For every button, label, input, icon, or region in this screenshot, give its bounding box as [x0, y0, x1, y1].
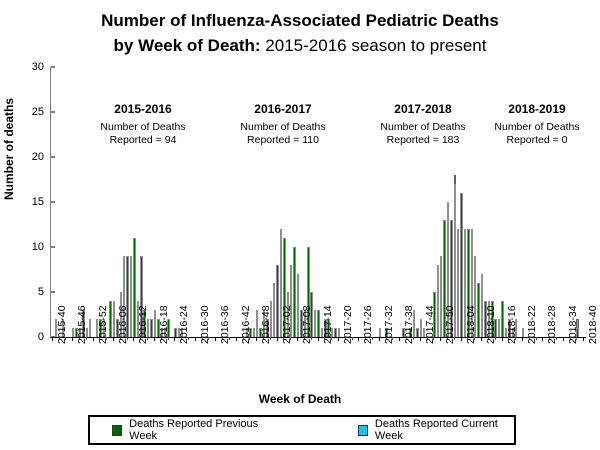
season-deaths-total: Reported = 110 [218, 134, 348, 147]
bar [133, 238, 135, 337]
season-deaths-caption: Number of Deaths [218, 121, 348, 134]
bar-segment-previous-week [501, 301, 503, 337]
bar [109, 301, 111, 337]
bar-segment-previous-week [253, 328, 255, 337]
x-axis-tick-label: 2017-44 [424, 305, 436, 344]
bar [334, 328, 336, 337]
season-name: 2015-2016 [78, 103, 208, 116]
x-axis-tick-label: 2018-28 [546, 305, 558, 344]
x-axis-tick-mark [52, 337, 53, 341]
x-axis-tick-mark [72, 337, 73, 341]
x-axis-tick-label: 2017-08 [301, 305, 313, 344]
legend-label-current-week: Deaths Reported Current Week [375, 418, 514, 442]
bar-segment-previous-week [317, 310, 319, 337]
x-axis-tick-label: 2018-40 [587, 305, 599, 344]
bar [276, 265, 278, 337]
bar [498, 319, 500, 337]
season-annotation: 2017-2018Number of DeathsReported = 183 [358, 103, 488, 147]
bar-segment-previous-week [416, 328, 418, 337]
bar-segment-previous-week [297, 274, 299, 337]
bar [293, 247, 295, 337]
bar-segment-previous-week [457, 229, 459, 337]
x-axis-tick-label: 2016-42 [240, 305, 252, 344]
bar [253, 328, 255, 337]
x-axis-tick-label: 2015-40 [56, 305, 68, 344]
bar-segment-previous-week [113, 301, 115, 337]
season-deaths-caption: Number of Deaths [358, 121, 488, 134]
x-axis-tick-label: 2017-20 [342, 305, 354, 344]
bar [256, 310, 258, 337]
bar [273, 283, 275, 337]
bar-segment-previous-week [256, 310, 258, 337]
x-axis-tick-mark [215, 337, 216, 341]
x-axis-tick-mark [461, 337, 462, 341]
season-deaths-caption: Number of Deaths [78, 121, 208, 134]
bar-segment-previous-week [109, 301, 111, 337]
season-name: 2017-2018 [358, 103, 488, 116]
bar-segment-previous-week [273, 283, 275, 337]
bar [457, 229, 459, 337]
bar-segment-previous-week [522, 328, 524, 337]
x-axis-tick-mark [236, 337, 237, 341]
y-axis-label: Number of deaths [2, 98, 16, 200]
bar-segment-previous-week [481, 274, 483, 337]
legend-label-previous-week: Deaths Reported Previous Week [129, 418, 274, 442]
x-axis-tick-label: 2016-06 [117, 305, 129, 344]
legend-swatch-previous-week-icon [112, 425, 122, 436]
bar-segment-previous-week [334, 328, 336, 337]
bar-segment-current-week [454, 175, 456, 184]
influenza-pediatric-deaths-chart: Number of Influenza-Associated Pediatric… [0, 0, 600, 450]
bar [89, 319, 91, 337]
chart-title-line-2-subtitle: 2015-2016 season to present [261, 36, 487, 55]
bar [522, 328, 524, 337]
y-axis-tick-label: 10 [32, 241, 51, 253]
bar [416, 328, 418, 337]
x-axis-tick-mark [93, 337, 94, 341]
bar [297, 274, 299, 337]
x-axis-tick-mark [542, 337, 543, 341]
x-axis-tick-mark [256, 337, 257, 341]
y-axis-tick-label: 25 [32, 106, 51, 118]
bar [379, 328, 381, 337]
bar-segment-previous-week [440, 256, 442, 337]
x-axis-tick-label: 2015-46 [76, 305, 88, 344]
x-axis-tick-mark [563, 337, 564, 341]
bar-segment-previous-week [293, 247, 295, 337]
bar-segment-previous-week [498, 319, 500, 337]
bar [150, 319, 152, 337]
x-axis-tick-label: 2017-50 [444, 305, 456, 344]
legend-item-current-week: Deaths Reported Current Week [358, 418, 514, 442]
x-axis-tick-mark [522, 337, 523, 341]
x-axis-tick-mark [297, 337, 298, 341]
bar-segment-previous-week [338, 328, 340, 337]
bar-segment-previous-week [460, 193, 462, 337]
chart-title-line-1-text: Number of Influenza-Associated Pediatric… [101, 11, 499, 30]
season-deaths-total: Reported = 183 [358, 134, 488, 147]
x-axis-tick-mark [420, 337, 421, 341]
x-axis-tick-label: 2017-38 [403, 305, 415, 344]
bar [481, 274, 483, 337]
x-axis-tick-mark [338, 337, 339, 341]
bar [460, 193, 462, 337]
x-axis-tick-mark [133, 337, 134, 341]
bar-segment-previous-week [437, 265, 439, 337]
season-deaths-caption: Number of Deaths [482, 121, 592, 134]
season-annotation: 2016-2017Number of DeathsReported = 110 [218, 103, 348, 147]
x-axis-tick-mark [174, 337, 175, 341]
bar-segment-previous-week [420, 319, 422, 337]
bar [420, 319, 422, 337]
bar [338, 328, 340, 337]
bar [174, 328, 176, 337]
bar [440, 256, 442, 337]
x-axis-tick-mark [481, 337, 482, 341]
bar-segment-previous-week [150, 319, 152, 337]
x-axis-tick-mark [318, 337, 319, 341]
bar [437, 265, 439, 337]
x-axis-label: Week of Death [0, 392, 600, 406]
x-axis-tick-label: 2018-22 [526, 305, 538, 344]
x-axis-tick-label: 2016-18 [158, 305, 170, 344]
x-axis-tick-mark [399, 337, 400, 341]
bar-segment-previous-week [379, 328, 381, 337]
x-axis-tick-label: 2016-48 [260, 305, 272, 344]
x-axis-tick-label: 2016-36 [219, 305, 231, 344]
bar-segment-previous-week [174, 328, 176, 337]
y-axis-tick-label: 20 [32, 151, 51, 163]
chart-legend: Deaths Reported Previous Week Deaths Rep… [88, 415, 516, 445]
chart-title: Number of Influenza-Associated Pediatric… [0, 8, 600, 58]
season-name: 2016-2017 [218, 103, 348, 116]
season-name: 2018-2019 [482, 103, 592, 116]
bar [72, 328, 74, 337]
bar-segment-previous-week [477, 283, 479, 337]
x-axis-tick-mark [583, 337, 584, 341]
legend-item-previous-week: Deaths Reported Previous Week [112, 418, 274, 442]
x-axis-tick-mark [502, 337, 503, 341]
chart-title-line-2-bold: by Week of Death: [114, 36, 261, 55]
bar-segment-previous-week [89, 319, 91, 337]
bar [477, 283, 479, 337]
y-axis-tick-label: 5 [38, 286, 51, 298]
season-annotation: 2018-2019Number of DeathsReported = 0 [482, 103, 592, 147]
x-axis-tick-label: 2017-26 [362, 305, 374, 344]
bar-segment-previous-week [276, 265, 278, 337]
bar [314, 310, 316, 337]
bar-segment-previous-week [154, 310, 156, 337]
bar-segment-previous-week [133, 238, 135, 337]
bar [113, 301, 115, 337]
x-axis-tick-label: 2017-02 [281, 305, 293, 344]
legend-swatch-current-week-icon [358, 425, 368, 436]
x-axis-tick-label: 2015-52 [97, 305, 109, 344]
season-annotation: 2015-2016Number of DeathsReported = 94 [78, 103, 208, 147]
x-axis-tick-mark [195, 337, 196, 341]
season-deaths-total: Reported = 94 [78, 134, 208, 147]
x-axis-tick-mark [277, 337, 278, 341]
x-axis-tick-label: 2016-24 [178, 305, 190, 344]
x-axis-tick-label: 2017-14 [322, 305, 334, 344]
x-axis-tick-label: 2016-12 [137, 305, 149, 344]
season-deaths-total: Reported = 0 [482, 134, 592, 147]
x-axis-tick-mark [358, 337, 359, 341]
x-axis-tick-label: 2018-34 [567, 305, 579, 344]
bar [317, 310, 319, 337]
x-axis-tick-label: 2018-16 [506, 305, 518, 344]
chart-title-line-1: Number of Influenza-Associated Pediatric… [0, 8, 600, 33]
x-axis-tick-label: 2018-10 [485, 305, 497, 344]
y-axis-tick-label: 15 [32, 196, 51, 208]
bar-segment-previous-week [314, 310, 316, 337]
x-axis-tick-label: 2018-04 [465, 305, 477, 344]
x-axis-tick-mark [113, 337, 114, 341]
bar [130, 256, 132, 337]
x-axis-tick-mark [379, 337, 380, 341]
x-axis-tick-label: 2016-30 [199, 305, 211, 344]
y-axis-tick-label: 0 [38, 331, 51, 343]
chart-title-line-2: by Week of Death: 2015-2016 season to pr… [0, 33, 600, 58]
y-axis-tick-label: 30 [32, 61, 51, 73]
x-axis-tick-mark [154, 337, 155, 341]
bar [501, 301, 503, 337]
bar-segment-previous-week [72, 328, 74, 337]
bar [154, 310, 156, 337]
bar-segment-previous-week [130, 256, 132, 337]
x-axis-tick-label: 2017-32 [383, 305, 395, 344]
x-axis-tick-mark [440, 337, 441, 341]
